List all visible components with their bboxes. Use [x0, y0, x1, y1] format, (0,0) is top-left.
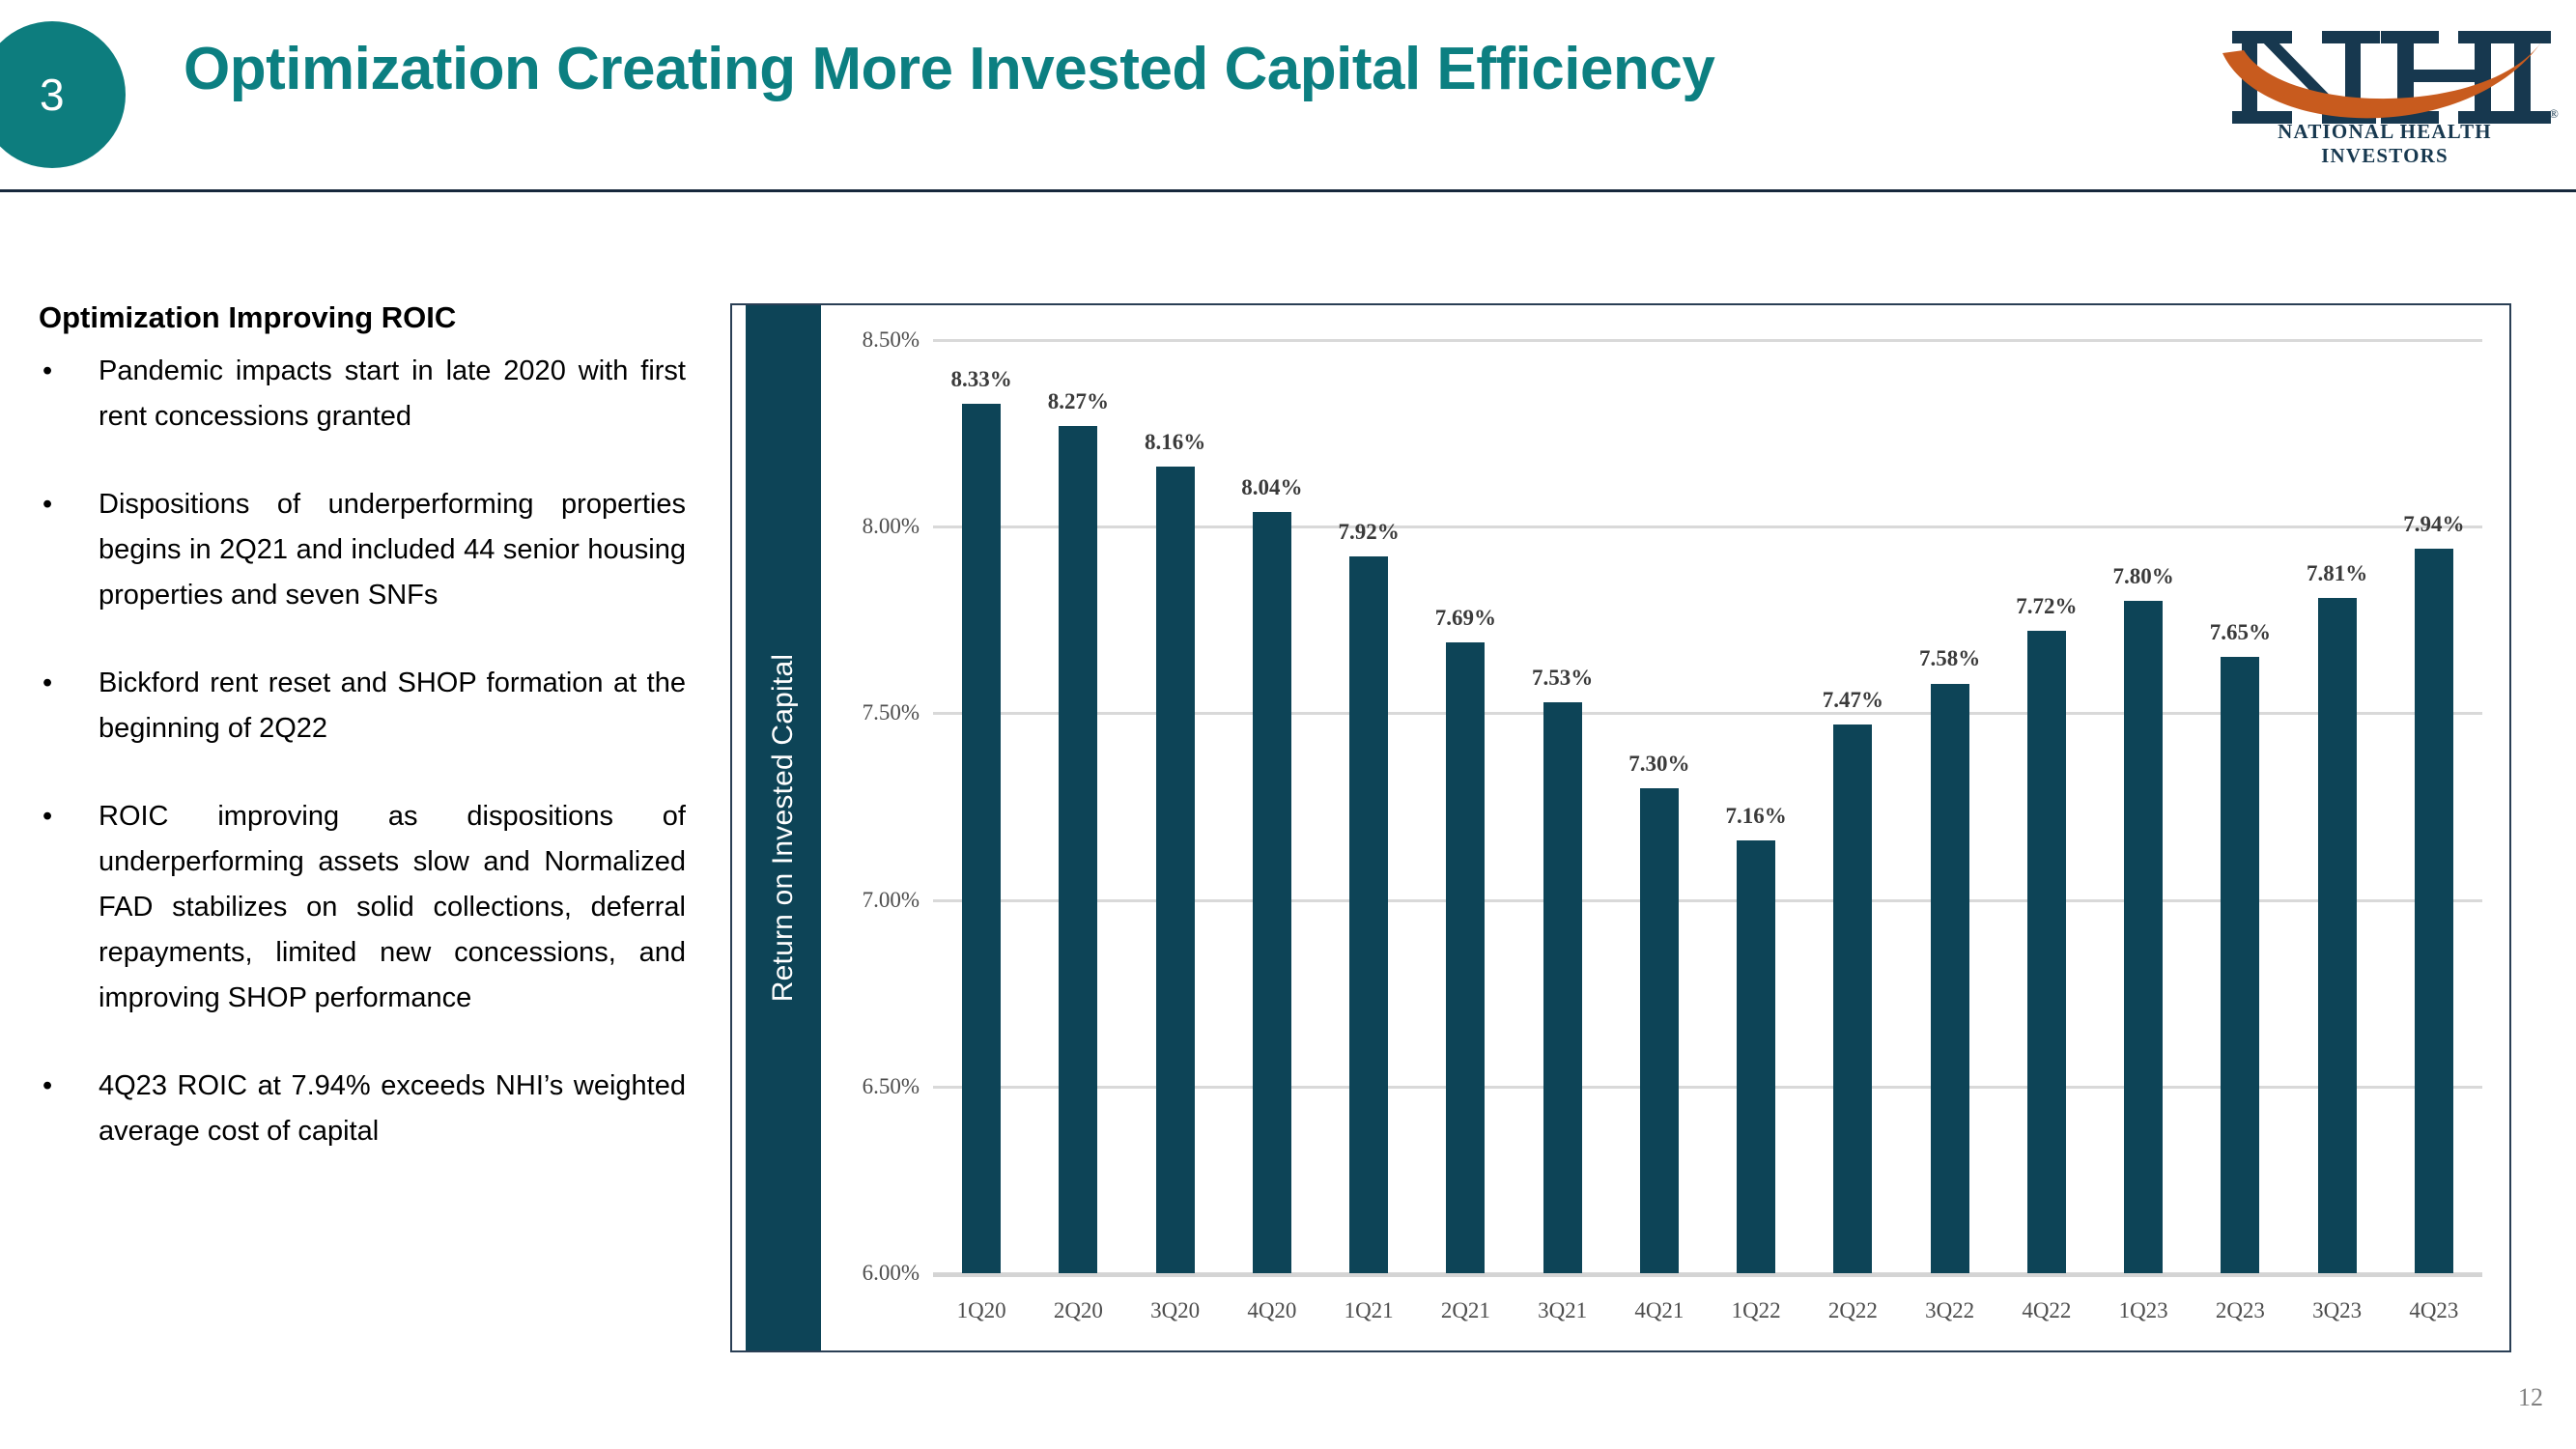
bar-value-label: 8.27%	[1048, 389, 1109, 414]
bullet-item: •Pandemic impacts start in late 2020 wit…	[39, 349, 686, 440]
y-axis-title: Return on Invested Capital	[767, 654, 800, 1002]
bullet-item: •Bickford rent reset and SHOP formation …	[39, 661, 686, 752]
x-axis-tick-label: 4Q22	[2022, 1298, 2071, 1323]
bullet-list: •Pandemic impacts start in late 2020 wit…	[39, 349, 686, 1154]
bar	[962, 404, 1001, 1273]
bar-slot: 8.27%2Q20	[1030, 305, 1126, 1350]
bar	[2124, 601, 2163, 1273]
bar-value-label: 7.30%	[1628, 752, 1689, 777]
bullet-text: 4Q23 ROIC at 7.94% exceeds NHI’s weighte…	[99, 1064, 686, 1154]
bar-value-label: 7.16%	[1726, 804, 1787, 829]
x-axis-tick-label: 1Q21	[1345, 1298, 1394, 1323]
slide-number-text: 3	[40, 69, 65, 121]
plot-area: 8.33%1Q208.27%2Q208.16%3Q208.04%4Q207.92…	[933, 305, 2482, 1350]
y-axis-tick-label: 8.00%	[863, 514, 920, 539]
y-axis-tick-label: 6.50%	[863, 1074, 920, 1099]
x-axis-tick-label: 1Q20	[957, 1298, 1006, 1323]
y-axis-tick-label: 7.50%	[863, 700, 920, 725]
bullet-marker-icon: •	[39, 349, 99, 440]
bullet-item: •ROIC improving as dispositions of under…	[39, 794, 686, 1021]
bar	[2415, 549, 2453, 1273]
slide-number-badge: 3	[0, 21, 126, 168]
bar-value-label: 7.69%	[1435, 606, 1496, 631]
bar-value-label: 7.72%	[2016, 594, 2077, 619]
x-axis-tick-label: 4Q20	[1247, 1298, 1296, 1323]
bar-value-label: 8.04%	[1241, 475, 1302, 500]
x-axis-tick-label: 4Q23	[2409, 1298, 2458, 1323]
bullet-text: Dispositions of underperforming properti…	[99, 482, 686, 618]
left-text-panel: Optimization Improving ROIC •Pandemic im…	[39, 299, 686, 1154]
bar	[1059, 426, 1097, 1273]
bar-slot: 7.72%4Q22	[1998, 305, 2095, 1350]
bar-value-label: 7.53%	[1532, 666, 1593, 691]
bar	[2318, 598, 2357, 1273]
y-axis-tick-label: 6.00%	[863, 1261, 920, 1286]
bar-value-label: 7.65%	[2210, 620, 2271, 645]
bullet-item: •4Q23 ROIC at 7.94% exceeds NHI’s weight…	[39, 1064, 686, 1154]
bar-value-label: 7.58%	[1919, 646, 1980, 671]
x-axis-tick-label: 3Q23	[2312, 1298, 2362, 1323]
roic-chart-panel: Return on Invested Capital 8.50%8.00%7.5…	[730, 303, 2511, 1352]
bar-slot: 7.65%2Q23	[2192, 305, 2288, 1350]
bar-value-label: 8.16%	[1145, 430, 1205, 455]
bar-slot: 7.80%1Q23	[2095, 305, 2192, 1350]
bar	[1931, 684, 1969, 1274]
y-axis-title-band: Return on Invested Capital	[746, 305, 821, 1350]
bar	[2221, 657, 2259, 1273]
x-axis-tick-label: 2Q20	[1054, 1298, 1103, 1323]
bar-slot: 7.47%2Q22	[1804, 305, 1901, 1350]
registered-mark-icon: ®	[2549, 106, 2559, 121]
bar	[1446, 642, 1485, 1273]
bar	[1640, 788, 1679, 1273]
x-axis-tick-label: 2Q23	[2216, 1298, 2265, 1323]
bullet-text: ROIC improving as dispositions of underp…	[99, 794, 686, 1021]
page-title: Optimization Creating More Invested Capi…	[184, 35, 1714, 103]
y-axis-tick-label: 8.50%	[863, 327, 920, 353]
bar-value-label: 7.81%	[2307, 561, 2367, 586]
bar-slot: 7.94%4Q23	[2386, 305, 2482, 1350]
y-axis-tick-labels: 8.50%8.00%7.50%7.00%6.50%6.00%	[825, 305, 933, 1350]
x-axis-baseline	[933, 1273, 2482, 1277]
x-axis-tick-label: 2Q22	[1828, 1298, 1878, 1323]
bullet-text: Bickford rent reset and SHOP formation a…	[99, 661, 686, 752]
bar	[2027, 631, 2066, 1273]
bar	[1737, 840, 1775, 1273]
bar	[1349, 556, 1388, 1273]
bar-slot: 7.53%3Q21	[1514, 305, 1611, 1350]
nhi-logo: ® NATIONAL HEALTH INVESTORS	[2205, 10, 2562, 176]
bar-slot: 8.33%1Q20	[933, 305, 1030, 1350]
x-axis-tick-label: 1Q23	[2119, 1298, 2168, 1323]
bar-slot: 7.16%1Q22	[1708, 305, 1804, 1350]
x-axis-tick-label: 1Q22	[1732, 1298, 1781, 1323]
bar-value-label: 7.47%	[1823, 688, 1883, 713]
bar	[1833, 724, 1872, 1273]
x-axis-tick-label: 3Q21	[1538, 1298, 1587, 1323]
bullet-text: Pandemic impacts start in late 2020 with…	[99, 349, 686, 440]
bar-value-label: 7.94%	[2403, 512, 2464, 537]
bar-slot: 7.30%4Q21	[1611, 305, 1708, 1350]
bullet-marker-icon: •	[39, 794, 99, 1021]
slide-header: 3 Optimization Creating More Invested Ca…	[0, 0, 2576, 191]
bullet-marker-icon: •	[39, 1064, 99, 1154]
bar-slot: 7.58%3Q22	[1902, 305, 1998, 1350]
bar	[1253, 512, 1291, 1273]
bar-slot: 7.69%2Q21	[1417, 305, 1514, 1350]
bar-slot: 8.16%3Q20	[1127, 305, 1224, 1350]
bar-series: 8.33%1Q208.27%2Q208.16%3Q208.04%4Q207.92…	[933, 305, 2482, 1350]
bar-value-label: 8.33%	[951, 367, 1012, 392]
bar-slot: 7.81%3Q23	[2289, 305, 2386, 1350]
page-number: 12	[2518, 1383, 2543, 1412]
plot-wrapper: 8.50%8.00%7.50%7.00%6.50%6.00% 8.33%1Q20…	[825, 305, 2509, 1350]
x-axis-tick-label: 3Q22	[1925, 1298, 1974, 1323]
bar-value-label: 7.92%	[1339, 520, 1400, 545]
logo-wordmark: NATIONAL HEALTH INVESTORS	[2213, 120, 2557, 168]
bullet-marker-icon: •	[39, 661, 99, 752]
header-divider	[0, 189, 2576, 192]
x-axis-tick-label: 2Q21	[1441, 1298, 1490, 1323]
bar-value-label: 7.80%	[2113, 564, 2174, 589]
bar-slot: 7.92%1Q21	[1320, 305, 1417, 1350]
x-axis-tick-label: 4Q21	[1634, 1298, 1684, 1323]
bar	[1543, 702, 1582, 1273]
left-panel-heading: Optimization Improving ROIC	[39, 299, 686, 337]
bullet-item: •Dispositions of underperforming propert…	[39, 482, 686, 618]
bar-slot: 8.04%4Q20	[1224, 305, 1320, 1350]
bar	[1156, 467, 1195, 1273]
y-axis-tick-label: 7.00%	[863, 888, 920, 913]
x-axis-tick-label: 3Q20	[1150, 1298, 1200, 1323]
bullet-marker-icon: •	[39, 482, 99, 618]
